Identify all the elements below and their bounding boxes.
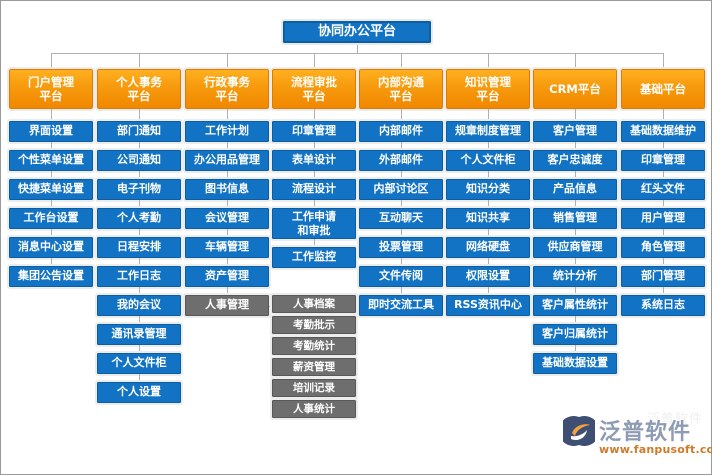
node-7-5[interactable]: 部门管理 [621,266,705,287]
item-stem-2-0 [227,109,228,121]
node-0-2[interactable]: 快捷菜单设置 [9,179,93,200]
column-stem-6 [575,53,576,69]
node-6-3[interactable]: 销售管理 [533,208,617,229]
node-3-2[interactable]: 流程设计 [272,179,356,200]
item-stem-1-6 [139,287,140,295]
item-stem-2-5 [227,258,228,266]
column-stem-4 [401,53,402,69]
node-5-2[interactable]: 知识分类 [446,179,530,200]
platform-header-2-line2: 平台 [216,89,239,103]
item-stem-1-3 [139,200,140,208]
item-stem-1-8 [139,345,140,353]
item-stem-2-2 [227,171,228,179]
node-2-6[interactable]: 人事管理 [185,295,269,316]
item-stem-0-0 [51,109,52,121]
item-stem-5-4 [488,229,489,237]
column-stem-2 [227,53,228,69]
platform-header-4-line2: 平台 [390,89,413,103]
item-stem-0-5 [51,258,52,266]
platform-header-1[interactable]: 个人事务平台 [97,69,181,109]
item-stem-3-0 [314,109,315,121]
node-1-6[interactable]: 我的会议 [97,295,181,316]
item-stem-3-2 [314,171,315,179]
item-stem-4-2 [401,171,402,179]
root-node[interactable]: 协同办公平台 [283,21,431,43]
platform-header-4[interactable]: 内部沟通平台 [359,69,443,109]
item-stem-7-0 [663,109,664,121]
platform-header-7-line1: 基础平台 [640,82,686,96]
logo-url-text: www.fanpusoft.com [599,443,712,456]
node-5-1[interactable]: 个人文件柜 [446,150,530,171]
node-1-3[interactable]: 个人考勤 [97,208,181,229]
node-5-5[interactable]: 权限设置 [446,266,530,287]
node-2-5[interactable]: 资产管理 [185,266,269,287]
node-5-4[interactable]: 网络硬盘 [446,237,530,258]
item-stem-6-5 [575,258,576,266]
node-0-5[interactable]: 集团公告设置 [9,266,93,287]
node-7-2[interactable]: 红头文件 [621,179,705,200]
node-6-1[interactable]: 客户忠诚度 [533,150,617,171]
column-stem-7 [663,53,664,69]
platform-header-6-line1: CRM平台 [549,82,601,96]
platform-header-3-line1: 流程审批 [291,75,337,89]
node-5-3[interactable]: 知识共享 [446,208,530,229]
node-7-4[interactable]: 角色管理 [621,237,705,258]
item-stem-5-6 [488,287,489,295]
item-stem-5-5 [488,258,489,266]
hr-node-4[interactable]: 培训记录 [272,379,356,397]
item-stem-0-1 [51,142,52,150]
platform-header-2-line1: 行政事务 [204,75,250,89]
item-stem-6-4 [575,229,576,237]
item-stem-4-1 [401,142,402,150]
node-7-0[interactable]: 基础数据维护 [621,121,705,142]
node-1-2[interactable]: 电子刊物 [97,179,181,200]
node-4-1[interactable]: 外部邮件 [359,150,443,171]
platform-header-6[interactable]: CRM平台 [533,69,617,109]
node-6-5[interactable]: 统计分析 [533,266,617,287]
item-stem-7-6 [663,287,664,295]
node-3-3-line1: 工作申请 [292,210,336,223]
node-1-0[interactable]: 部门通知 [97,121,181,142]
item-stem-1-7 [139,316,140,324]
node-7-1[interactable]: 印章管理 [621,150,705,171]
item-stem-4-5 [401,258,402,266]
platform-header-1-line2: 平台 [128,89,151,103]
platform-header-7[interactable]: 基础平台 [621,69,705,109]
column-stem-0 [51,53,52,69]
platform-header-0-line2: 平台 [40,89,63,103]
column-stem-5 [488,53,489,69]
node-1-4[interactable]: 日程安排 [97,237,181,258]
node-2-0[interactable]: 工作计划 [185,121,269,142]
item-stem-3-1 [314,142,315,150]
node-4-5[interactable]: 文件传阅 [359,266,443,287]
platform-header-1-line1: 个人事务 [116,75,162,89]
item-stem-1-4 [139,229,140,237]
item-stem-1-1 [139,142,140,150]
hr-node-0[interactable]: 人事档案 [272,295,356,313]
node-6-7[interactable]: 客户归属统计 [533,324,617,345]
platform-header-0[interactable]: 门户管理平台 [9,69,93,109]
node-0-3[interactable]: 工作台设置 [9,208,93,229]
hr-node-5[interactable]: 人事统计 [272,400,356,418]
hr-node-3[interactable]: 薪资管理 [272,358,356,376]
item-stem-7-1 [663,142,664,150]
logo-brand-text: 泛普软件 [599,414,691,446]
item-stem-0-4 [51,229,52,237]
item-stem-7-4 [663,229,664,237]
item-stem-3-4 [314,239,315,247]
platform-header-5-line1: 知识管理 [465,75,511,89]
node-5-6[interactable]: RSS资讯中心 [446,295,530,316]
item-stem-4-3 [401,200,402,208]
node-7-6[interactable]: 系统日志 [621,295,705,316]
item-stem-7-3 [663,200,664,208]
platform-header-3[interactable]: 流程审批平台 [272,69,356,109]
node-1-7[interactable]: 通讯录管理 [97,324,181,345]
item-stem-7-2 [663,171,664,179]
node-3-4[interactable]: 工作监控 [272,247,356,268]
platform-header-5-line2: 平台 [477,89,500,103]
node-4-6[interactable]: 即时交流工具 [359,295,443,316]
item-stem-6-8 [575,345,576,353]
item-stem-6-7 [575,316,576,324]
column-stem-1 [139,53,140,69]
node-1-9[interactable]: 个人设置 [97,382,181,403]
item-stem-6-3 [575,200,576,208]
item-stem-6-2 [575,171,576,179]
item-stem-3-3 [314,200,315,208]
node-2-1[interactable]: 办公用品管理 [185,150,269,171]
node-2-3[interactable]: 会议管理 [185,208,269,229]
item-stem-6-1 [575,142,576,150]
org-chart-canvas: 协同办公平台门户管理平台界面设置个性菜单设置快捷菜单设置工作台设置消息中心设置集… [0,0,712,475]
node-6-8[interactable]: 基础数据设置 [533,353,617,374]
node-4-4[interactable]: 投票管理 [359,237,443,258]
node-6-2[interactable]: 产品信息 [533,179,617,200]
header-bus [51,53,663,54]
item-stem-5-3 [488,200,489,208]
node-7-3[interactable]: 用户管理 [621,208,705,229]
item-stem-2-3 [227,200,228,208]
item-stem-4-6 [401,287,402,295]
node-3-3-line2: 和审批 [298,224,331,237]
platform-header-3-line2: 平台 [303,89,326,103]
item-stem-0-2 [51,171,52,179]
node-6-0[interactable]: 客户管理 [533,121,617,142]
item-stem-4-0 [401,109,402,121]
item-stem-5-0 [488,109,489,121]
node-4-2[interactable]: 内部讨论区 [359,179,443,200]
platform-header-4-line1: 内部沟通 [378,75,424,89]
item-stem-1-5 [139,258,140,266]
node-2-2[interactable]: 图书信息 [185,179,269,200]
item-stem-2-1 [227,142,228,150]
column-stem-3 [314,53,315,69]
item-stem-1-2 [139,171,140,179]
item-stem-5-1 [488,142,489,150]
company-logo: 泛普软件泛普软件www.fanpusoft.com [563,412,703,464]
node-1-8[interactable]: 个人文件柜 [97,353,181,374]
platform-header-0-line1: 门户管理 [28,75,74,89]
item-stem-4-4 [401,229,402,237]
item-stem-1-0 [139,109,140,121]
node-3-0[interactable]: 印章管理 [272,121,356,142]
node-3-1[interactable]: 表单设计 [272,150,356,171]
node-4-0[interactable]: 内部邮件 [359,121,443,142]
item-stem-2-6 [227,287,228,295]
node-3-3[interactable]: 工作申请和审批 [272,208,356,239]
item-stem-1-9 [139,374,140,382]
node-1-5[interactable]: 工作日志 [97,266,181,287]
node-0-1[interactable]: 个性菜单设置 [9,150,93,171]
node-2-4[interactable]: 车辆管理 [185,237,269,258]
root-stem [357,45,358,53]
node-6-4[interactable]: 供应商管理 [533,237,617,258]
hr-node-2[interactable]: 考勤统计 [272,337,356,355]
platform-header-5[interactable]: 知识管理平台 [446,69,530,109]
platform-header-2[interactable]: 行政事务平台 [185,69,269,109]
node-1-1[interactable]: 公司通知 [97,150,181,171]
node-6-6[interactable]: 客户属性统计 [533,295,617,316]
hr-node-1[interactable]: 考勤批示 [272,316,356,334]
node-0-4[interactable]: 消息中心设置 [9,237,93,258]
item-stem-2-4 [227,229,228,237]
item-stem-7-5 [663,258,664,266]
item-stem-5-2 [488,171,489,179]
node-0-0[interactable]: 界面设置 [9,121,93,142]
logo-swoosh-icon [563,416,595,450]
item-stem-0-3 [51,200,52,208]
node-5-0[interactable]: 规章制度管理 [446,121,530,142]
item-stem-6-0 [575,109,576,121]
item-stem-6-6 [575,287,576,295]
node-4-3[interactable]: 互动聊天 [359,208,443,229]
